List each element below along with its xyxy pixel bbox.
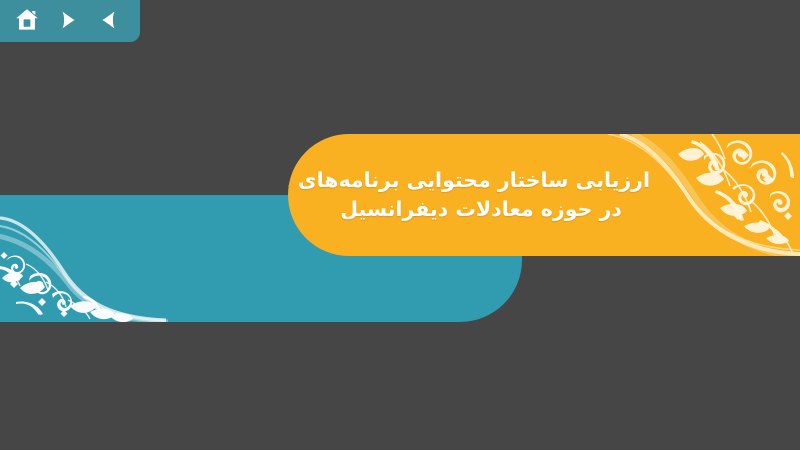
triangle-left-icon [97, 8, 121, 32]
slide-title-line-2: در حوزه معادلات دیفرانسیل [312, 195, 650, 224]
slide-navigation-bar [0, 0, 140, 42]
title-panel: ارزیابی ساختار محتوایی برنامه‌های آموزشی… [288, 134, 800, 256]
next-slide-button[interactable] [53, 5, 83, 35]
home-icon [14, 7, 40, 33]
slide-title: ارزیابی ساختار محتوایی برنامه‌های آموزشی… [312, 166, 650, 224]
home-button[interactable] [12, 5, 42, 35]
arabesque-ornament-teal [0, 214, 168, 322]
presentation-slide: ارزیابی ساختار محتوایی برنامه‌های آموزشی… [0, 0, 800, 450]
triangle-right-icon [56, 8, 80, 32]
previous-slide-button[interactable] [94, 5, 124, 35]
slide-title-line-1: ارزیابی ساختار محتوایی برنامه‌های آموزشی [312, 166, 650, 195]
